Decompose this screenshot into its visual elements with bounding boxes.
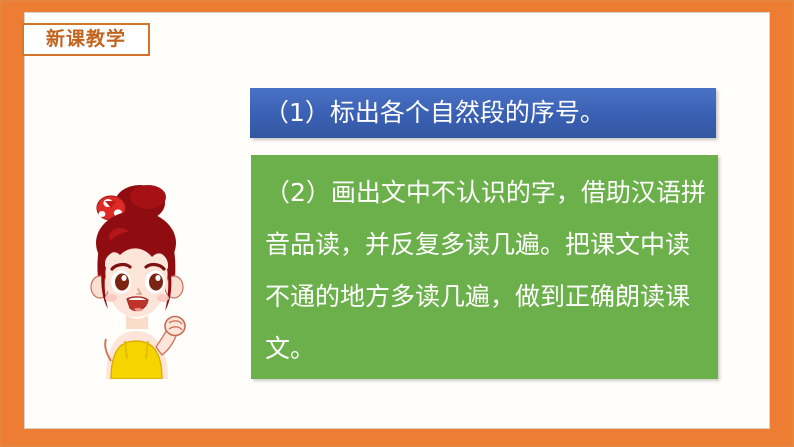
section-title-text: 新课教学 [46, 30, 126, 49]
cartoon-girl-illustration [78, 183, 194, 379]
slide: 新课教学 （1）标出各个自然段的序号。 （2）画出文中不认识的字，借助汉语拼音品… [0, 0, 794, 447]
instruction-text-1: （1）标出各个自然段的序号。 [250, 99, 605, 127]
instruction-box-1: （1）标出各个自然段的序号。 [250, 88, 716, 138]
instruction-text-2: （2）画出文中不认识的字，借助汉语拼音品读，并反复多读几遍。把课文中读不通的地方… [265, 178, 706, 363]
instruction-box-2: （2）画出文中不认识的字，借助汉语拼音品读，并反复多读几遍。把课文中读不通的地方… [251, 155, 718, 379]
section-title-chip: 新课教学 [22, 23, 150, 56]
